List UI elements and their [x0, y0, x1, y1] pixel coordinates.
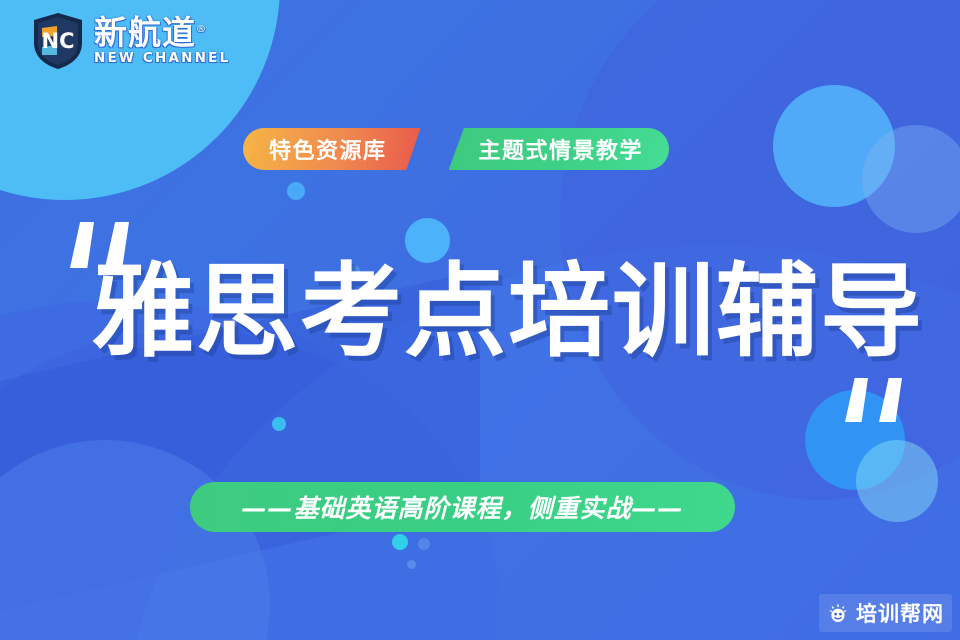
nc-shield-icon: NC — [32, 12, 84, 70]
svg-text:NC: NC — [42, 29, 75, 53]
decor-dot-bottom-1 — [418, 538, 430, 550]
badge-feature-library[interactable]: 特色资源库 — [243, 128, 421, 170]
badge-row: 特色资源库 主题式情景教学 — [243, 128, 669, 170]
brand-name-cn-text: 新航道 — [94, 13, 196, 52]
brand-name-en: NEW CHANNEL — [94, 52, 230, 66]
decor-circle-top-right-small — [862, 125, 960, 233]
decor-circle-quote-overlap — [856, 440, 938, 522]
page-title: 雅思考点培训辅导 — [92, 262, 924, 364]
watermark-text: 培训帮网 — [856, 598, 944, 628]
brand-logo[interactable]: NC 新航道® NEW CHANNEL — [32, 12, 230, 70]
sun-face-icon — [827, 602, 849, 624]
registered-mark: ® — [196, 24, 207, 35]
watermark: 培训帮网 — [819, 594, 952, 632]
close-quote-icon — [845, 378, 902, 422]
subtitle-pill: ——基础英语高阶课程，侧重实战—— — [190, 482, 735, 532]
promo-banner: NC 新航道® NEW CHANNEL 特色资源库 主题式情景教学 雅思考点培训… — [0, 0, 960, 640]
decor-dot-bottom-2 — [407, 560, 416, 569]
brand-wordmark: 新航道® NEW CHANNEL — [94, 16, 230, 66]
decor-dot-mid-small — [287, 182, 305, 200]
badge-thematic-teaching[interactable]: 主题式情景教学 — [449, 128, 670, 170]
brand-name-cn: 新航道® — [94, 16, 230, 49]
decor-dot-cyan — [392, 534, 408, 550]
decor-dot-left-cyan — [272, 417, 286, 431]
